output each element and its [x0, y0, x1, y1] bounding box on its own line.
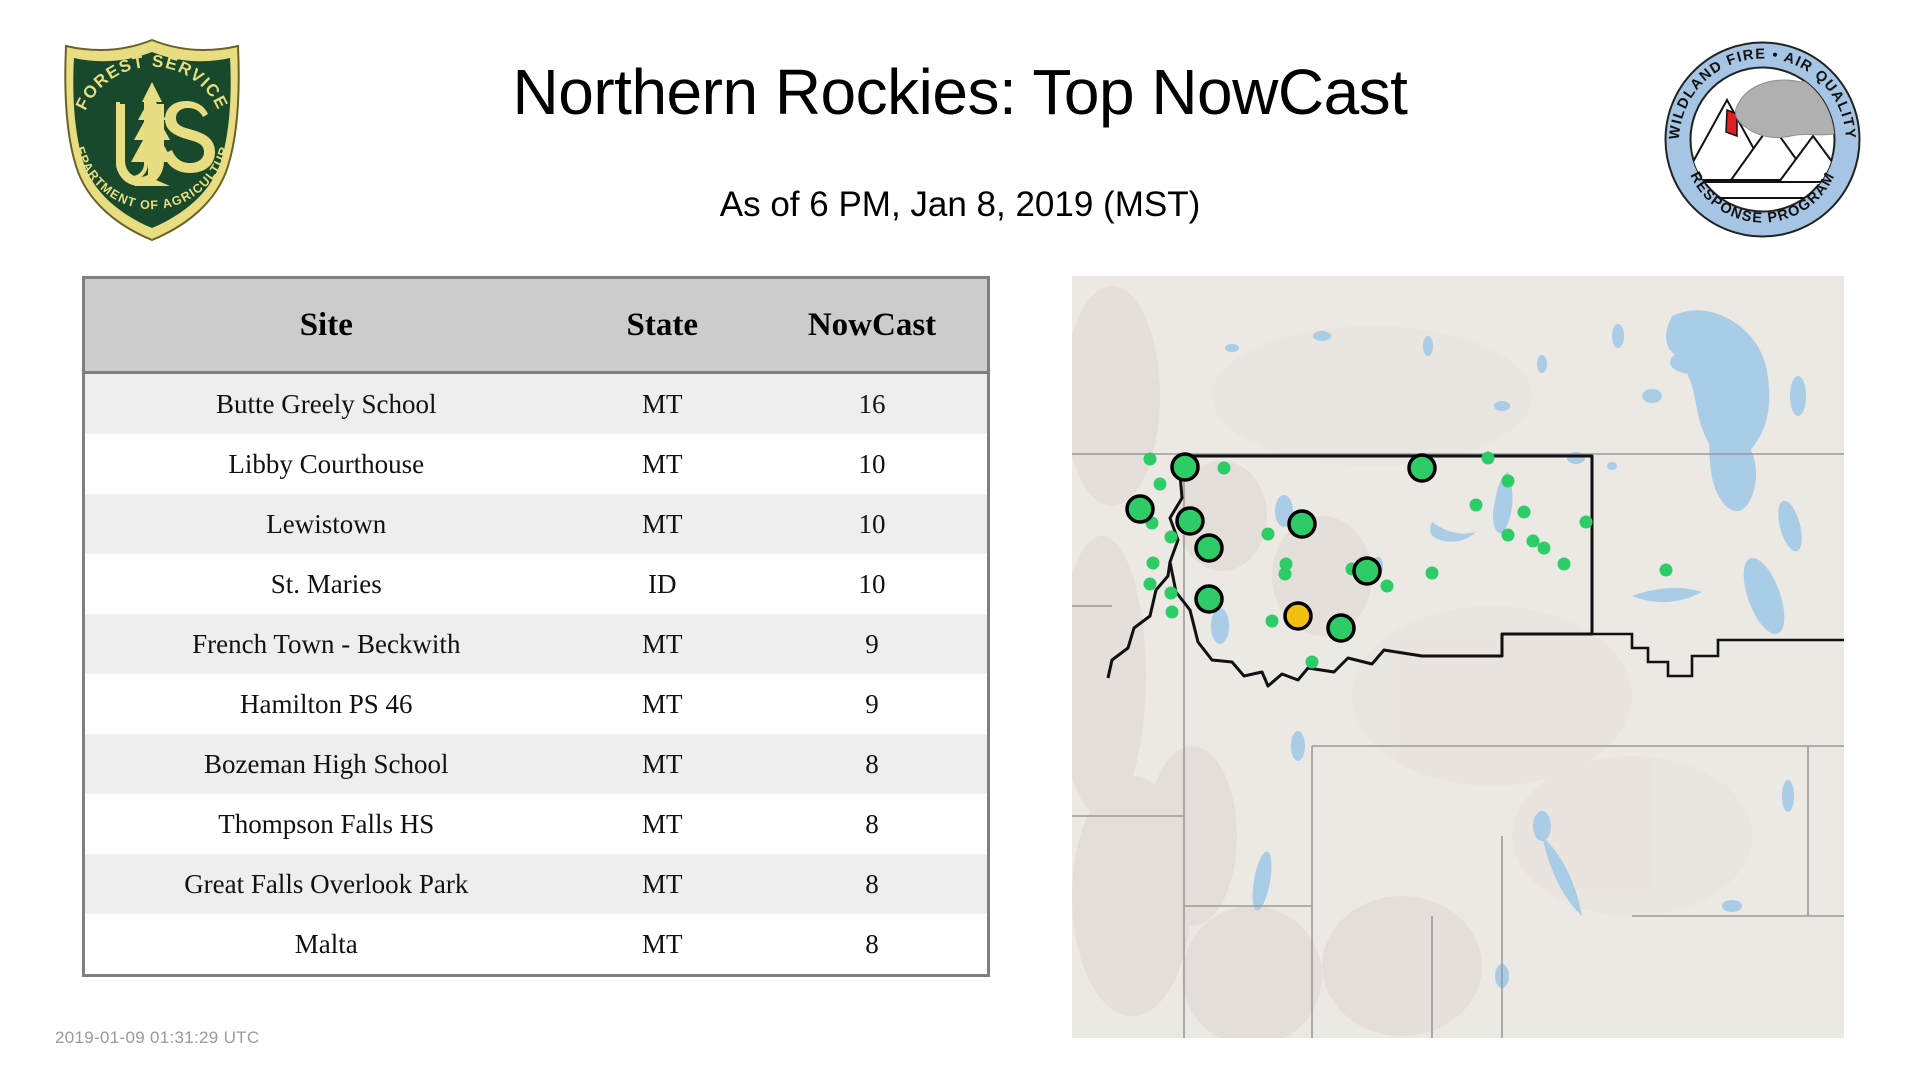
site-cell: Malta — [85, 914, 568, 974]
map-top-site-marker[interactable] — [1196, 535, 1222, 561]
map-monitor-dot[interactable] — [1165, 531, 1178, 544]
state-cell: MT — [568, 914, 757, 974]
column-header-nowcast: NowCast — [757, 279, 987, 373]
map-monitor-dot[interactable] — [1558, 558, 1571, 571]
page-title: Northern Rockies: Top NowCast — [360, 55, 1560, 129]
map-monitor-dot[interactable] — [1502, 529, 1515, 542]
map-monitor-dot[interactable] — [1527, 535, 1540, 548]
table-row: MaltaMT8 — [85, 914, 987, 974]
map-top-site-marker[interactable] — [1172, 454, 1198, 480]
page-subtitle: As of 6 PM, Jan 8, 2019 (MST) — [360, 185, 1560, 225]
nowcast-cell: 8 — [757, 854, 987, 914]
map-monitor-dot[interactable] — [1165, 587, 1178, 600]
table-row: Bozeman High SchoolMT8 — [85, 734, 987, 794]
map-monitor-dot[interactable] — [1482, 452, 1495, 465]
map-top-site-marker[interactable] — [1328, 615, 1354, 641]
column-header-state: State — [568, 279, 757, 373]
map-monitor-dot[interactable] — [1144, 453, 1157, 466]
map-monitor-dot[interactable] — [1144, 578, 1157, 591]
site-cell: Thompson Falls HS — [85, 794, 568, 854]
column-header-site: Site — [85, 279, 568, 373]
northern-rockies-aqi-map[interactable] — [1072, 276, 1844, 1038]
generation-timestamp: 2019-01-09 01:31:29 UTC — [55, 1028, 259, 1048]
nowcast-cell: 10 — [757, 554, 987, 614]
state-cell: MT — [568, 674, 757, 734]
nowcast-cell: 9 — [757, 614, 987, 674]
nowcast-cell: 8 — [757, 794, 987, 854]
map-top-site-marker[interactable] — [1409, 455, 1435, 481]
top-nowcast-table: Site State NowCast Butte Greely SchoolMT… — [82, 276, 990, 977]
site-cell: French Town - Beckwith — [85, 614, 568, 674]
site-cell: Great Falls Overlook Park — [85, 854, 568, 914]
map-top-site-marker[interactable] — [1196, 586, 1222, 612]
map-monitor-dot[interactable] — [1381, 580, 1394, 593]
nowcast-cell: 9 — [757, 674, 987, 734]
map-monitor-dot[interactable] — [1266, 615, 1279, 628]
nowcast-cell: 10 — [757, 434, 987, 494]
usfs-shield-logo: FOREST SERVICE DEPARTMENT OF AGRICULTURE — [52, 30, 252, 245]
nowcast-cell: 8 — [757, 734, 987, 794]
map-monitor-dot[interactable] — [1166, 606, 1179, 619]
state-cell: ID — [568, 554, 757, 614]
state-cell: MT — [568, 434, 757, 494]
map-top-site-marker[interactable] — [1289, 511, 1315, 537]
wfaqrp-circular-logo: WILDLAND FIRE • AIR QUALITY RESPONSE PRO… — [1655, 32, 1870, 247]
page-header: FOREST SERVICE DEPARTMENT OF AGRICULTURE… — [0, 0, 1920, 265]
state-cell: MT — [568, 734, 757, 794]
site-cell: Bozeman High School — [85, 734, 568, 794]
state-cell: MT — [568, 373, 757, 435]
table-row: Great Falls Overlook ParkMT8 — [85, 854, 987, 914]
nowcast-cell: 8 — [757, 914, 987, 974]
nowcast-cell: 16 — [757, 373, 987, 435]
state-cell: MT — [568, 614, 757, 674]
site-cell: Lewistown — [85, 494, 568, 554]
table-row: Thompson Falls HSMT8 — [85, 794, 987, 854]
map-monitor-dot[interactable] — [1470, 499, 1483, 512]
map-monitor-dot[interactable] — [1580, 516, 1593, 529]
table-row: St. MariesID10 — [85, 554, 987, 614]
site-cell: Butte Greely School — [85, 373, 568, 435]
site-cell: Hamilton PS 46 — [85, 674, 568, 734]
map-monitor-dot[interactable] — [1426, 567, 1439, 580]
map-monitor-dot[interactable] — [1306, 656, 1319, 669]
map-monitor-dot[interactable] — [1147, 557, 1160, 570]
table-row: Hamilton PS 46MT9 — [85, 674, 987, 734]
table-row: French Town - BeckwithMT9 — [85, 614, 987, 674]
map-top-site-marker[interactable] — [1354, 558, 1380, 584]
site-cell: St. Maries — [85, 554, 568, 614]
map-monitor-dot[interactable] — [1518, 506, 1531, 519]
map-monitor-dot[interactable] — [1279, 568, 1292, 581]
map-top-site-marker[interactable] — [1177, 508, 1203, 534]
state-cell: MT — [568, 494, 757, 554]
state-cell: MT — [568, 794, 757, 854]
map-monitor-dot[interactable] — [1660, 564, 1673, 577]
table-header-row: Site State NowCast — [85, 279, 987, 373]
table-row: Butte Greely SchoolMT16 — [85, 373, 987, 435]
map-monitor-dot[interactable] — [1218, 462, 1231, 475]
map-monitor-dot[interactable] — [1154, 478, 1167, 491]
table-row: LewistownMT10 — [85, 494, 987, 554]
state-cell: MT — [568, 854, 757, 914]
map-monitor-dot[interactable] — [1502, 475, 1515, 488]
map-top-site-marker[interactable] — [1285, 603, 1311, 629]
nowcast-cell: 10 — [757, 494, 987, 554]
table-row: Libby CourthouseMT10 — [85, 434, 987, 494]
map-top-site-marker[interactable] — [1127, 496, 1153, 522]
map-monitor-dot[interactable] — [1538, 542, 1551, 555]
site-cell: Libby Courthouse — [85, 434, 568, 494]
map-monitor-dot[interactable] — [1262, 528, 1275, 541]
